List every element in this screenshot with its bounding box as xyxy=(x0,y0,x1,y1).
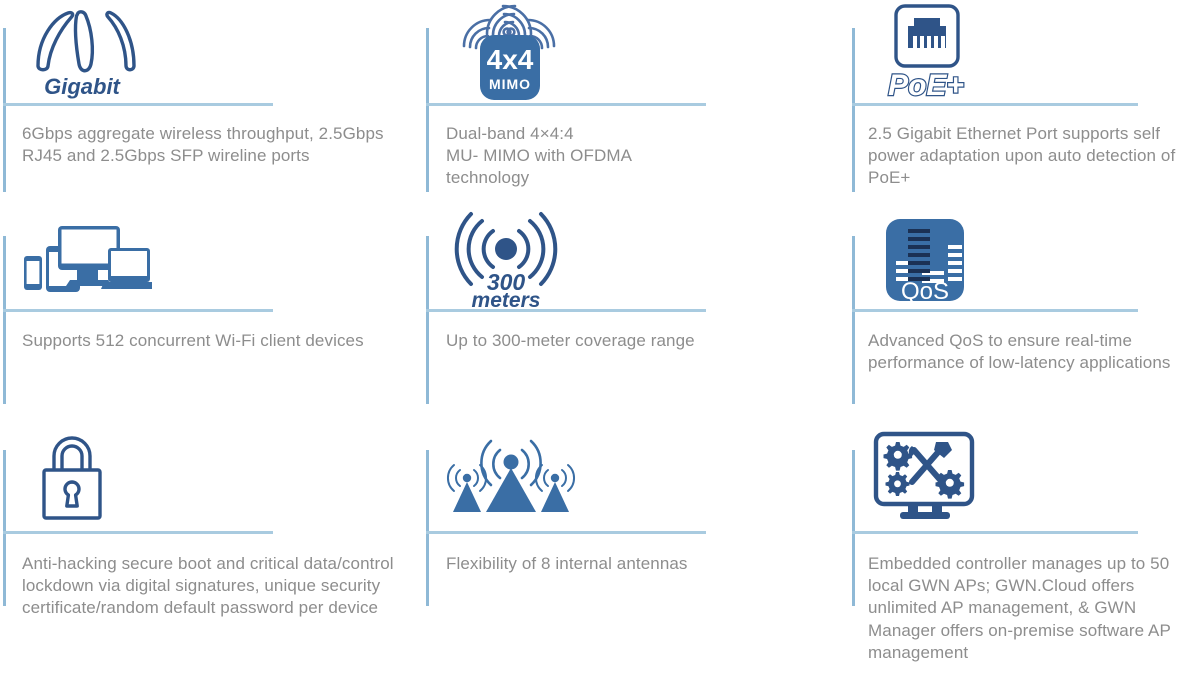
multi-device-clients-icon xyxy=(22,208,152,312)
qos-equalizer-icon: QoS xyxy=(870,208,980,312)
poe-icon-label: PoE+ xyxy=(888,69,964,102)
embedded-controller-monitor-icon xyxy=(870,420,980,532)
feature-description: 2.5 Gigabit Ethernet Port supports self … xyxy=(868,123,1186,190)
4x4-mimo-icon: 4x4 MIMO xyxy=(446,0,572,104)
feature-description: Advanced QoS to ensure real-time perform… xyxy=(868,330,1186,374)
vertical-accent-bar xyxy=(426,28,429,192)
feature-cell-controller: Embedded controller manages up to 50 loc… xyxy=(844,420,1200,676)
coverage-range-icon: 300 meters xyxy=(446,208,566,312)
vertical-accent-bar xyxy=(3,28,6,192)
feature-cell-gigabit: Gigabit 6Gbps aggregate wireless through… xyxy=(0,0,420,208)
vertical-accent-bar xyxy=(426,450,429,606)
feature-cell-mimo: 4x4 MIMO Dual-band 4×4:4 MU- MIMO with O… xyxy=(420,0,844,208)
feature-description: Supports 512 concurrent Wi-Fi client dev… xyxy=(22,330,406,352)
feature-cell-range: 300 meters Up to 300-meter coverage rang… xyxy=(420,208,844,420)
mimo-icon-label: 4x4 xyxy=(487,44,534,75)
vertical-accent-bar xyxy=(852,236,855,404)
padlock-security-icon xyxy=(22,420,122,532)
feature-cell-qos: QoS Advanced QoS to ensure real-time per… xyxy=(844,208,1200,420)
gigabit-speed-icon: Gigabit xyxy=(22,0,142,104)
feature-description: Dual-band 4×4:4 MU- MIMO with OFDMA tech… xyxy=(446,123,830,190)
mimo-icon-sublabel: MIMO xyxy=(489,76,531,92)
feature-description: Up to 300-meter coverage range xyxy=(446,330,830,352)
internal-antennas-icon xyxy=(446,420,576,532)
vertical-accent-bar xyxy=(852,450,855,606)
feature-cell-poe: PoE+ 2.5 Gigabit Ethernet Port supports … xyxy=(844,0,1200,208)
feature-grid-infographic: Gigabit 6Gbps aggregate wireless through… xyxy=(0,0,1200,676)
feature-description: Flexibility of 8 internal antennas xyxy=(446,553,830,575)
feature-description: Anti-hacking secure boot and critical da… xyxy=(22,553,406,620)
feature-grid: Gigabit 6Gbps aggregate wireless through… xyxy=(0,0,1200,676)
qos-icon-label: QoS xyxy=(901,278,949,305)
feature-description: 6Gbps aggregate wireless throughput, 2.5… xyxy=(22,123,406,167)
feature-cell-antennas: Flexibility of 8 internal antennas xyxy=(420,420,844,676)
range-icon-sublabel: meters xyxy=(472,289,541,309)
vertical-accent-bar xyxy=(852,28,855,192)
feature-cell-clients: Supports 512 concurrent Wi-Fi client dev… xyxy=(0,208,420,420)
gigabit-icon-label: Gigabit xyxy=(44,74,121,99)
poe-plus-ethernet-port-icon: PoE+ xyxy=(870,0,996,104)
vertical-accent-bar xyxy=(3,236,6,404)
feature-description: Embedded controller manages up to 50 loc… xyxy=(868,553,1186,664)
vertical-accent-bar xyxy=(426,236,429,404)
feature-cell-security: Anti-hacking secure boot and critical da… xyxy=(0,420,420,676)
vertical-accent-bar xyxy=(3,450,6,606)
